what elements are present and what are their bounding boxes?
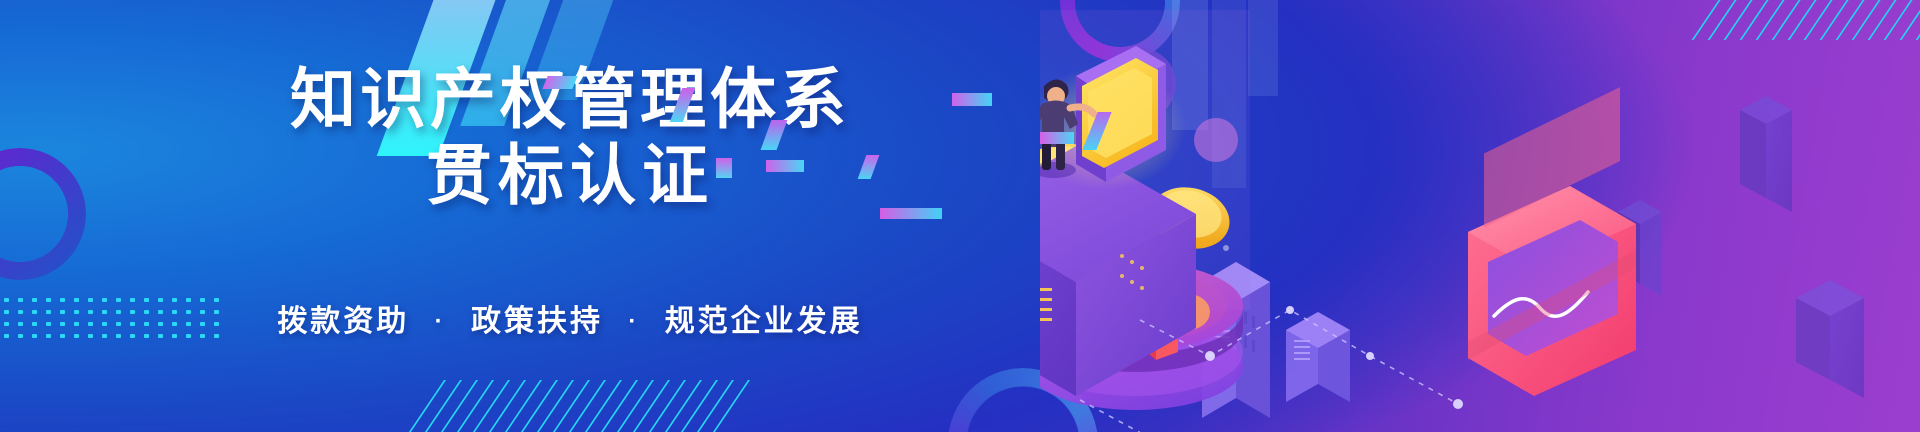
hatch-lines-bottom	[444, 380, 704, 432]
tagline-separator: ·	[435, 308, 446, 335]
promo-banner: 知识产权管理体系 贯标认证 拨款资助 · 政策扶持 · 规范企业发展	[0, 0, 1920, 432]
tagline-separator: ·	[628, 308, 639, 335]
tagline: 拨款资助 · 政策扶持 · 规范企业发展	[0, 296, 1140, 340]
tagline-item-3: 规范企业发展	[665, 305, 863, 338]
line-chart-card	[1468, 87, 1636, 396]
headline-line-1: 知识产权管理体系	[290, 62, 850, 136]
tagline-item-2: 政策扶持	[471, 305, 603, 338]
headline-line-2: 贯标认证	[426, 138, 714, 212]
tagline-item-1: 拨款资助	[277, 305, 409, 338]
background-towers	[1618, 96, 1864, 398]
hero-illustration	[1040, 0, 1920, 432]
headline-block: 知识产权管理体系 贯标认证	[0, 62, 1140, 212]
